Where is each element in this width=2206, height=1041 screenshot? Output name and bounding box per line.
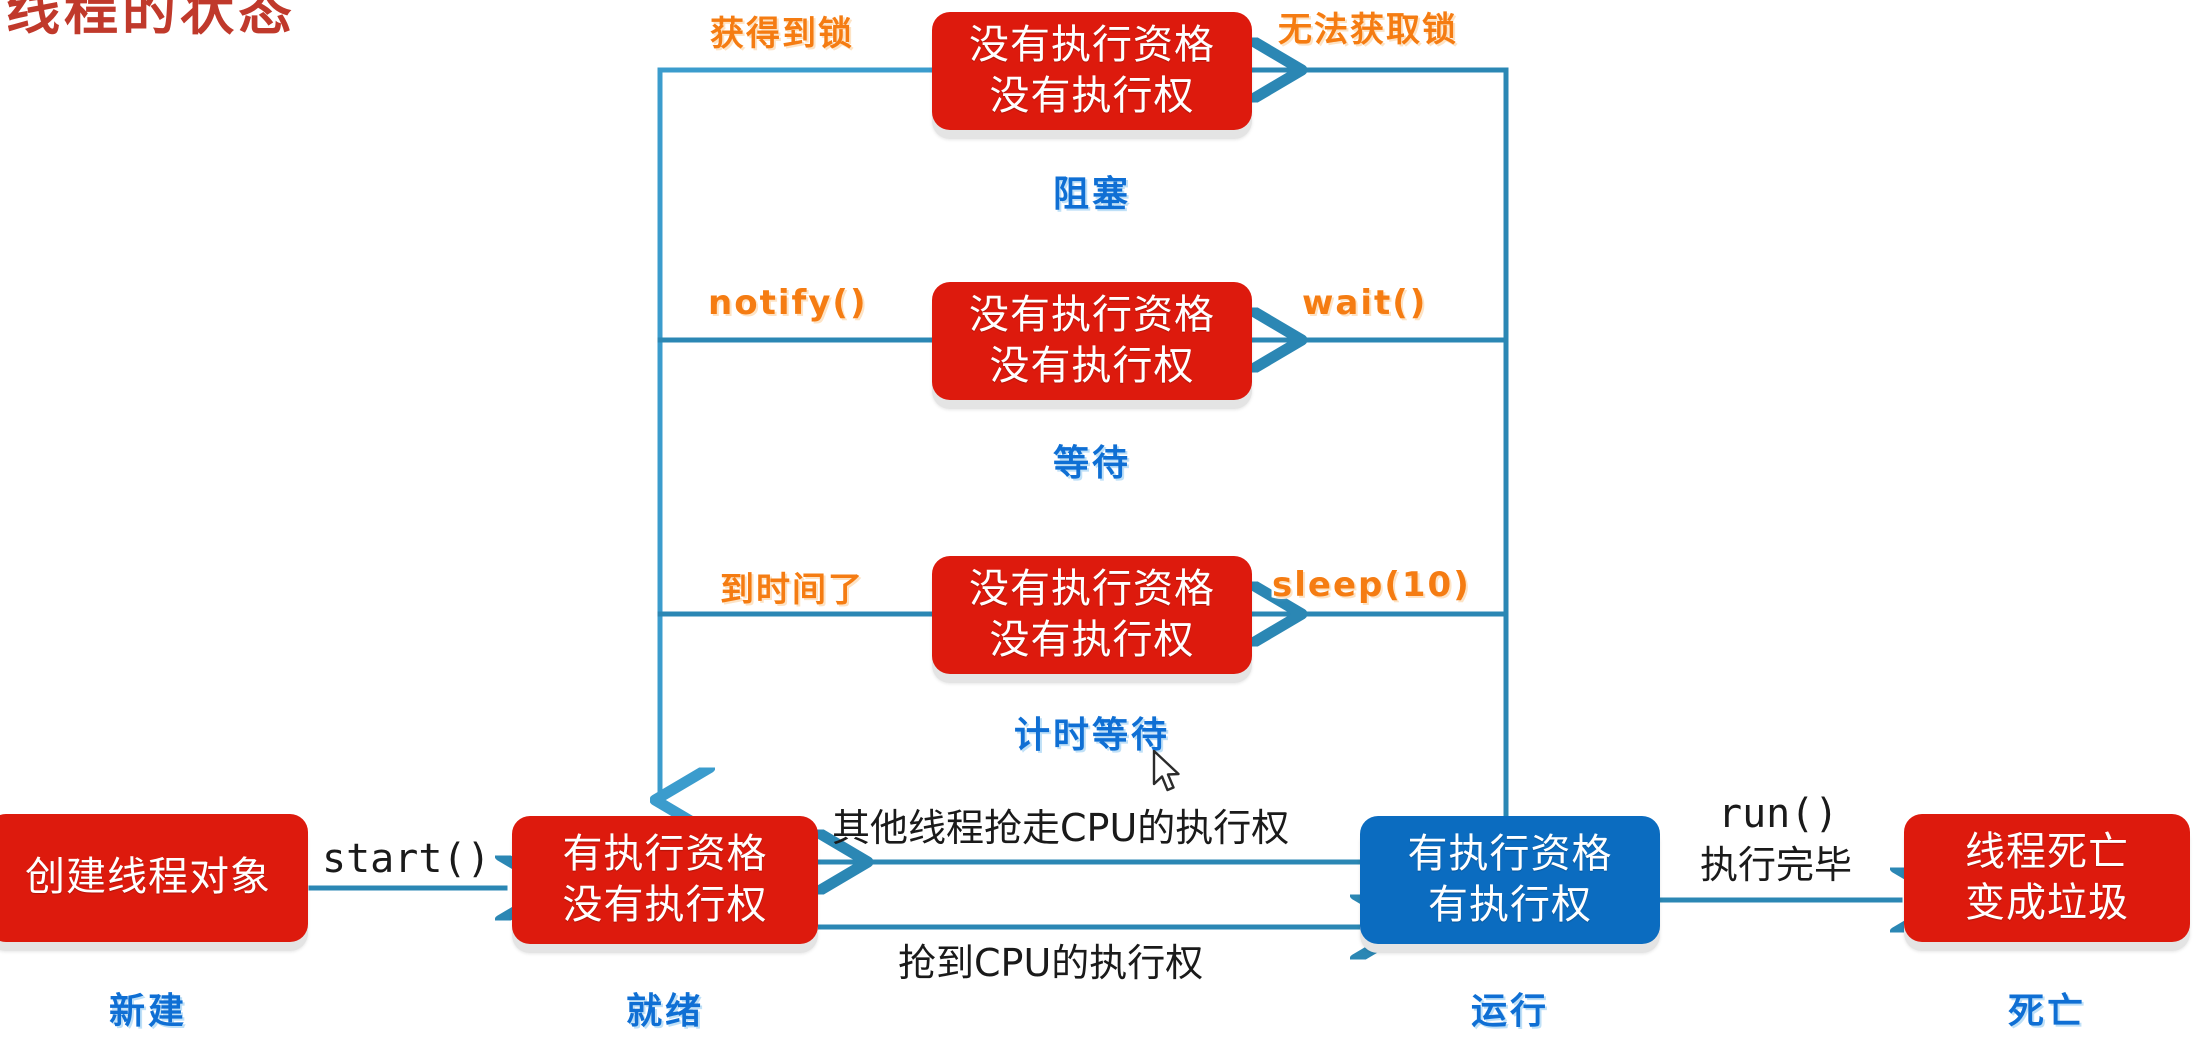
state-caption-new: 新建 (0, 982, 308, 1034)
state-caption-timed-waiting: 计时等待 (912, 706, 1272, 758)
state-box-blocked[interactable]: 没有执行资格 没有执行权 (932, 12, 1252, 130)
label-notify: notify() (708, 283, 868, 323)
state-waiting-line2: 没有执行权 (990, 341, 1195, 392)
state-running-line2: 有执行权 (1428, 880, 1592, 931)
state-new-line1: 创建线程对象 (25, 852, 271, 903)
state-box-new[interactable]: 创建线程对象 (0, 814, 308, 942)
label-sleep: sleep(10) (1272, 565, 1471, 605)
mouse-pointer-icon (1152, 750, 1186, 796)
label-start: start() (322, 835, 491, 884)
state-box-dead[interactable]: 线程死亡 变成垃圾 (1904, 814, 2190, 942)
state-dead-line1: 线程死亡 (1965, 827, 2129, 878)
page-title: 线程的状态 (6, 0, 296, 45)
state-caption-ready: 就绪 (512, 982, 818, 1034)
state-caption-running: 运行 (1360, 982, 1660, 1034)
state-box-waiting[interactable]: 没有执行资格 没有执行权 (932, 282, 1252, 400)
state-caption-blocked: 阻塞 (932, 165, 1252, 217)
state-box-timed-waiting[interactable]: 没有执行资格 没有执行权 (932, 556, 1252, 674)
label-acquire-lock: 获得到锁 (710, 6, 854, 55)
state-dead-line2: 变成垃圾 (1965, 878, 2129, 929)
state-caption-dead: 死亡 (1904, 982, 2190, 1034)
state-timed-line2: 没有执行权 (990, 615, 1195, 666)
state-box-ready[interactable]: 有执行资格 没有执行权 (512, 816, 818, 944)
label-wait: wait() (1302, 283, 1427, 323)
label-time-up: 到时间了 (720, 562, 864, 611)
state-caption-waiting: 等待 (932, 434, 1252, 486)
connector-layer (0, 0, 2206, 1041)
state-ready-line2: 没有执行权 (563, 880, 768, 931)
state-blocked-line1: 没有执行资格 (969, 20, 1215, 71)
label-preempted: 其他线程抢走CPU的执行权 (832, 805, 1289, 851)
label-run-finished-line1: run() (1718, 790, 1838, 839)
diagram-canvas: 线程的状态 没有执行资格 没有执行权 阻塞 获得到锁 无法获取锁 没有执行资格 … (0, 0, 2206, 1041)
wire-acquire-lock-to-ready (660, 70, 932, 800)
state-box-running[interactable]: 有执行资格 有执行权 (1360, 816, 1660, 944)
state-timed-line1: 没有执行资格 (969, 564, 1215, 615)
state-waiting-line1: 没有执行资格 (969, 290, 1215, 341)
state-ready-line1: 有执行资格 (563, 829, 768, 880)
state-blocked-line2: 没有执行权 (990, 71, 1195, 122)
state-running-line1: 有执行资格 (1408, 829, 1613, 880)
label-run-finished-line2: 执行完毕 (1700, 842, 1852, 888)
wire-running-to-blocked (1252, 70, 1506, 885)
label-cannot-acquire-lock: 无法获取锁 (1278, 2, 1458, 51)
label-got-cpu: 抢到CPU的执行权 (898, 940, 1203, 986)
